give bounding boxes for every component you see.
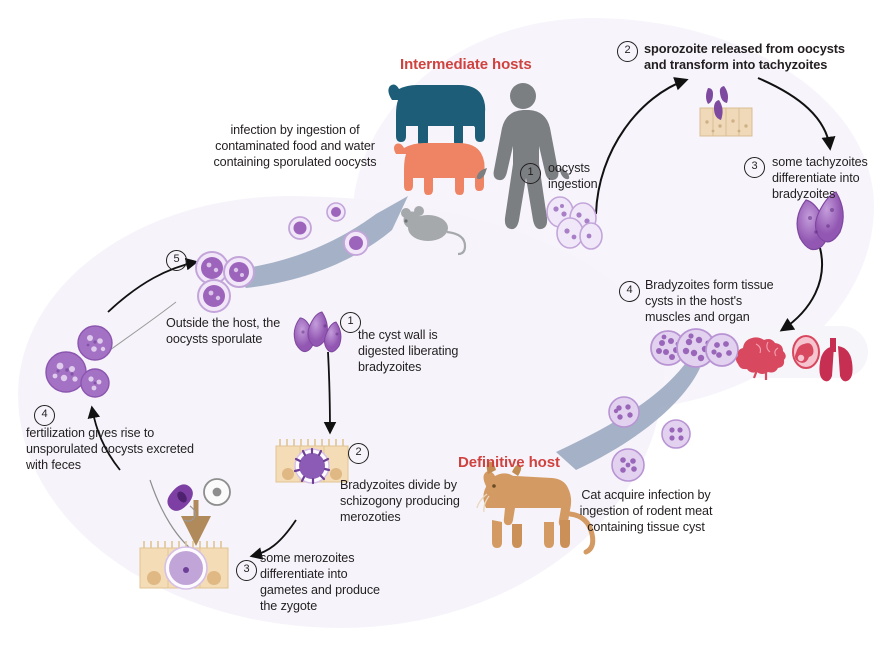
definitive-host-label: Definitive host bbox=[458, 454, 560, 471]
step-text-int-3: some tachyzoites differentiate into brad… bbox=[772, 155, 880, 203]
schizont-epithelium bbox=[276, 439, 348, 483]
step-marker-int-4: 4 bbox=[619, 281, 640, 302]
step-marker-int-1: 1 bbox=[520, 163, 541, 184]
transmission-band-to-intermediate bbox=[232, 196, 408, 288]
arrow-cat-step1-to-step2 bbox=[328, 352, 330, 432]
unsporulated-oocysts bbox=[46, 326, 112, 397]
intermediate-transmission-note: infection by ingestion of contaminated f… bbox=[210, 123, 380, 171]
step-text-def-2: Bradyzoites divide by schizogony produci… bbox=[340, 478, 464, 526]
step-marker-def-5: 5 bbox=[166, 250, 187, 271]
step-text-int-4: Bradyzoites form tissue cysts in the hos… bbox=[645, 278, 785, 326]
tissue-cyst-cluster bbox=[651, 329, 738, 367]
transmission-band-to-cat bbox=[556, 360, 700, 470]
arrow-step4-to-step5 bbox=[108, 262, 196, 312]
step-text-def-1: the cyst wall is digested liberating bra… bbox=[358, 328, 468, 376]
macrogamete-icon bbox=[204, 479, 230, 505]
lungs-icon bbox=[819, 338, 852, 381]
tissue-cyst-in-transit bbox=[609, 397, 690, 481]
step-marker-int-2: 2 bbox=[617, 41, 638, 62]
definitive-transmission-note: Cat acquire infection by ingestion of ro… bbox=[576, 488, 716, 536]
step-marker-def-3: 3 bbox=[236, 560, 257, 581]
zygote-epithelium bbox=[140, 541, 228, 589]
brain-icon bbox=[736, 337, 786, 380]
arrow-step3-to-step4 bbox=[782, 248, 822, 330]
line-step3-to-gametes bbox=[150, 480, 200, 556]
human-icon bbox=[477, 83, 569, 229]
step-text-def-5: Outside the host, the oocysts sporulate bbox=[166, 316, 326, 348]
arrow-step2-to-step3 bbox=[758, 78, 830, 148]
organ-group-background bbox=[736, 326, 868, 378]
step-text-def-3: some merozoites differentiate into gamet… bbox=[260, 551, 380, 614]
pig-icon bbox=[394, 143, 485, 195]
step-text-def-4: fertilization gives rise to unsporulated… bbox=[26, 426, 216, 474]
mouse-icon bbox=[401, 206, 465, 254]
fetus-eye-icon bbox=[793, 336, 819, 368]
microgamete-icon bbox=[167, 484, 195, 521]
oocysts-on-transmission-band bbox=[289, 203, 368, 255]
step-marker-def-4: 4 bbox=[34, 405, 55, 426]
step-text-int-1: oocysts ingestion bbox=[548, 161, 668, 193]
oocyst-cluster-ingested bbox=[547, 197, 602, 249]
step-marker-int-3: 3 bbox=[744, 157, 765, 178]
step-marker-def-2: 2 bbox=[348, 443, 369, 464]
life-cycle-diagram: Intermediate hosts Definitive host infec… bbox=[0, 0, 880, 660]
intermediate-hosts-label: Intermediate hosts bbox=[400, 56, 532, 73]
sporulated-oocysts bbox=[196, 252, 254, 312]
arrow-step1-to-step2 bbox=[596, 80, 686, 214]
cow-icon bbox=[388, 85, 485, 147]
step-text-int-2: sporozoite released from oocysts and tra… bbox=[644, 41, 880, 73]
sporozoite-epithelium-art bbox=[700, 86, 752, 136]
